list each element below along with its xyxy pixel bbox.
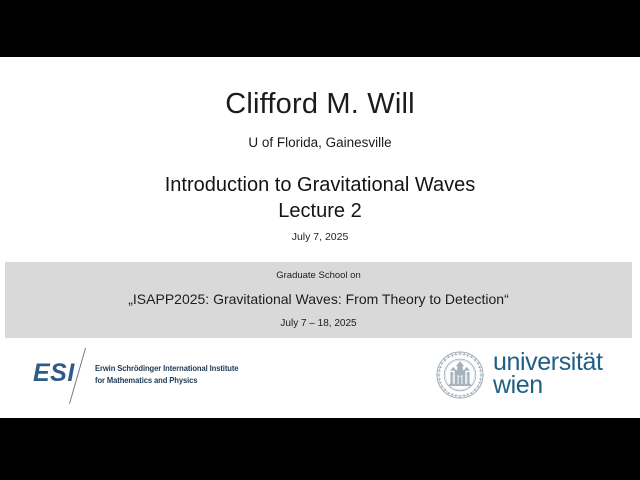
lecture-title-line2: Lecture 2 [0,199,640,225]
lecture-title-line1: Introduction to Gravitational Waves [0,173,640,199]
universitat-wien-wordmark: universität wien [493,351,603,396]
esi-logo: ESI Erwin Schrödinger International Inst… [33,351,253,403]
conference-band: Graduate School on „ISAPP2025: Gravitati… [5,262,632,338]
lecture-date: July 7, 2025 [0,231,640,244]
video-frame: Clifford M. Will U of Florida, Gainesvil… [0,0,640,480]
esi-name-line1: Erwin Schrödinger International Institut… [95,363,244,375]
conference-name: „ISAPP2025: Gravitational Waves: From Th… [5,290,632,308]
esi-wordmark: Erwin Schrödinger International Institut… [95,363,244,386]
speaker-name: Clifford M. Will [0,87,640,121]
logo-row: ESI Erwin Schrödinger International Inst… [0,345,640,409]
universitat-wien-logo: universität wien [436,347,618,405]
conference-dates: July 7 – 18, 2025 [5,317,632,330]
conference-prefix: Graduate School on [5,270,632,282]
letterbox-bar-bottom [0,418,640,480]
esi-name-line2: for Mathematics and Physics [95,375,244,387]
university-seal-icon [436,351,484,399]
univie-word-line2: wien [493,374,603,397]
presentation-slide: Clifford M. Will U of Florida, Gainesvil… [0,57,640,418]
lecture-title: Introduction to Gravitational Waves Lect… [0,173,640,224]
letterbox-bar-top [0,0,640,57]
esi-monogram: ESI [33,360,75,386]
speaker-affiliation: U of Florida, Gainesville [0,135,640,151]
